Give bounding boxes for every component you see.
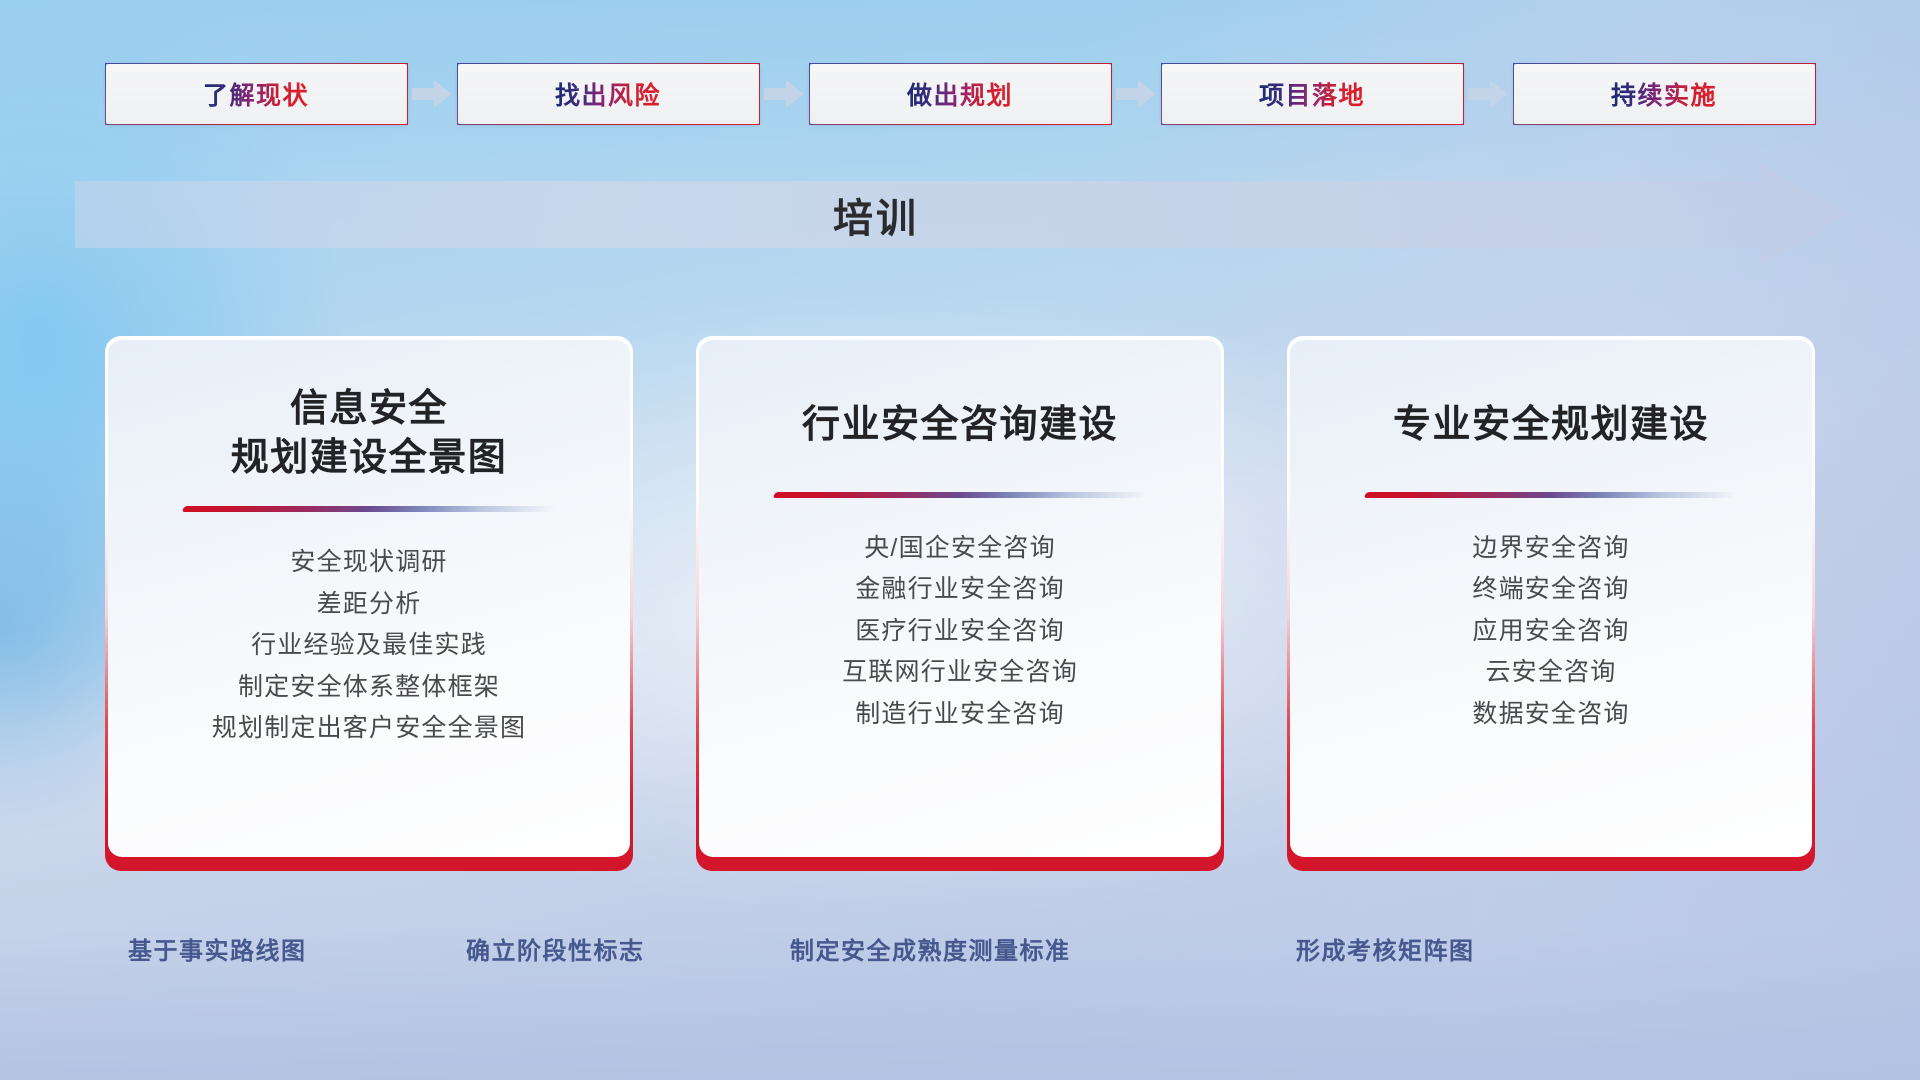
process-step-4-label: 项目落地: [1259, 76, 1365, 112]
process-step-5-label: 持续实施: [1611, 76, 1717, 112]
process-step-3-label: 做出规划: [907, 76, 1013, 112]
list-item: 制定安全体系整体框架: [238, 667, 500, 709]
card-divider: [773, 492, 1148, 498]
list-item: 云安全咨询: [1485, 652, 1616, 694]
list-item: 差距分析: [317, 584, 422, 626]
card-title: 信息安全 规划建设全景图: [231, 385, 508, 482]
training-banner: 培训: [75, 163, 1847, 266]
list-item: 边界安全咨询: [1472, 528, 1629, 570]
caption-milestone: 确立阶段性标志: [466, 925, 645, 971]
card-divider: [1364, 492, 1739, 498]
arrow-right-icon: [1464, 63, 1513, 125]
list-item: 规划制定出客户安全全景图: [212, 708, 526, 750]
caption-roadmap: 基于事实路线图: [128, 925, 307, 971]
process-step-1-label: 了解现状: [203, 76, 309, 112]
card-title: 行业安全咨询建设: [802, 401, 1118, 450]
card-divider: [182, 506, 557, 512]
arrow-right-icon: [408, 63, 457, 125]
list-item: 互联网行业安全咨询: [842, 652, 1078, 694]
process-step-1[interactable]: 了解现状: [105, 63, 408, 125]
card-list: 边界安全咨询 终端安全咨询 应用安全咨询 云安全咨询 数据安全咨询: [1290, 528, 1812, 736]
card-information-security-blueprint[interactable]: 信息安全 规划建设全景图 安全现状调研 差距分析 行业经验及最佳实践 制定安全体…: [105, 336, 633, 871]
card-list: 安全现状调研 差距分析 行业经验及最佳实践 制定安全体系整体框架 规划制定出客户…: [108, 542, 630, 750]
process-step-2-label: 找出风险: [555, 76, 661, 112]
list-item: 安全现状调研: [290, 542, 447, 584]
list-item: 央/国企安全咨询: [864, 528, 1056, 570]
caption-maturity: 制定安全成熟度测量标准: [790, 925, 1071, 971]
caption-matrix: 形成考核矩阵图: [1296, 925, 1475, 971]
caption-row: 基于事实路线图 确立阶段性标志 制定安全成熟度测量标准 形成考核矩阵图: [0, 925, 1920, 971]
process-step-4[interactable]: 项目落地: [1161, 63, 1464, 125]
card-row: 信息安全 规划建设全景图 安全现状调研 差距分析 行业经验及最佳实践 制定安全体…: [0, 336, 1920, 876]
process-step-2[interactable]: 找出风险: [457, 63, 760, 125]
list-item: 行业经验及最佳实践: [251, 625, 487, 667]
card-professional-security-planning[interactable]: 专业安全规划建设 边界安全咨询 终端安全咨询 应用安全咨询 云安全咨询 数据安全…: [1287, 336, 1815, 871]
list-item: 应用安全咨询: [1472, 611, 1629, 653]
list-item: 金融行业安全咨询: [855, 569, 1065, 611]
list-item: 终端安全咨询: [1472, 569, 1629, 611]
list-item: 制造行业安全咨询: [855, 694, 1065, 736]
process-step-5[interactable]: 持续实施: [1513, 63, 1816, 125]
process-step-row: 了解现状 找出风险 做出规划 项目落地 持续实施: [0, 63, 1920, 125]
list-item: 医疗行业安全咨询: [855, 611, 1065, 653]
card-list: 央/国企安全咨询 金融行业安全咨询 医疗行业安全咨询 互联网行业安全咨询 制造行…: [699, 528, 1221, 736]
card-body: 行业安全咨询建设 央/国企安全咨询 金融行业安全咨询 医疗行业安全咨询 互联网行…: [699, 339, 1221, 857]
arrow-right-icon: [760, 63, 809, 125]
process-step-3[interactable]: 做出规划: [809, 63, 1112, 125]
banner-title: 培训: [75, 163, 1847, 266]
card-body: 信息安全 规划建设全景图 安全现状调研 差距分析 行业经验及最佳实践 制定安全体…: [108, 339, 630, 857]
arrow-right-icon: [1112, 63, 1161, 125]
card-title: 专业安全规划建设: [1393, 401, 1709, 450]
list-item: 数据安全咨询: [1472, 694, 1629, 736]
card-body: 专业安全规划建设 边界安全咨询 终端安全咨询 应用安全咨询 云安全咨询 数据安全…: [1290, 339, 1812, 857]
card-industry-security-consulting[interactable]: 行业安全咨询建设 央/国企安全咨询 金融行业安全咨询 医疗行业安全咨询 互联网行…: [696, 336, 1224, 871]
